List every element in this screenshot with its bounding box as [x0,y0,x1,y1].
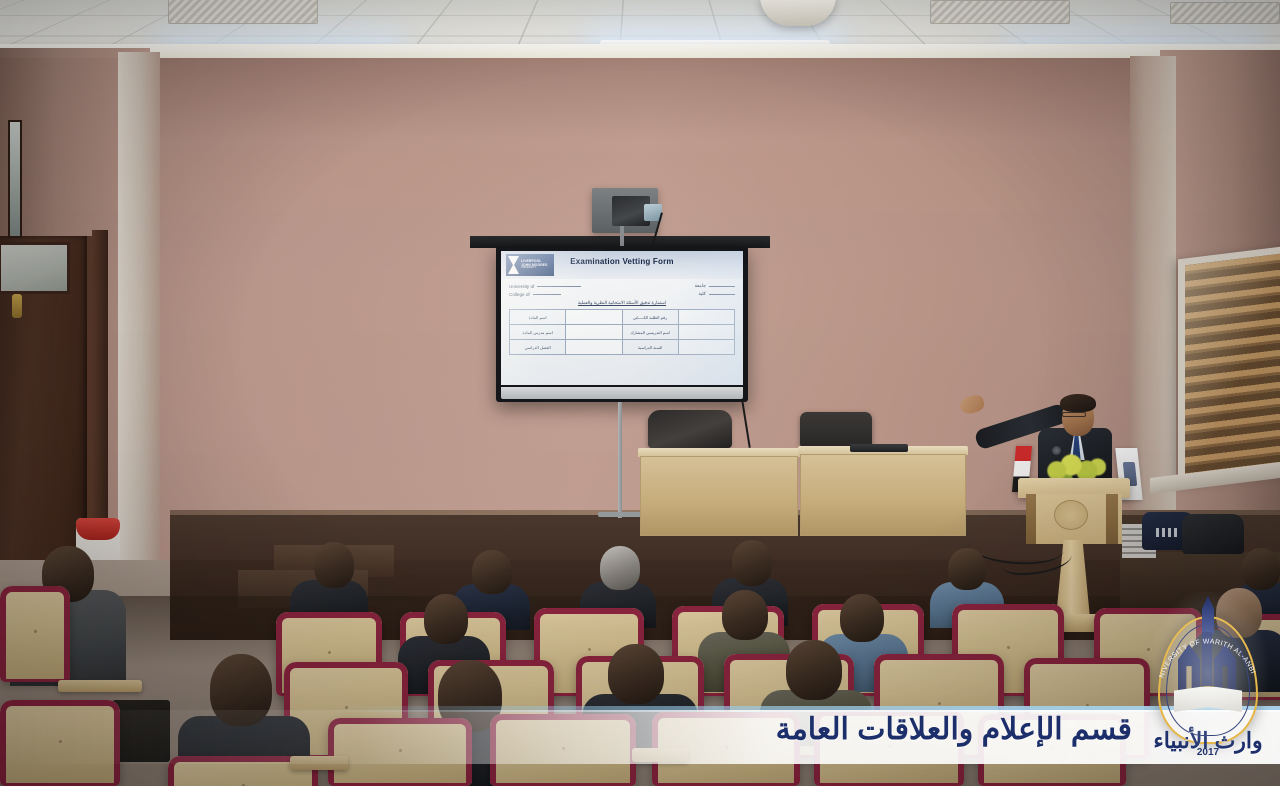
attendee-head [948,548,986,590]
cell-semester: الفصل الدراسي [510,340,566,355]
speaker-hair [1060,394,1096,412]
left-pillar [118,52,160,608]
field-university: University of [509,284,581,289]
attendee-head [840,594,884,642]
door-handle[interactable] [12,294,22,318]
attendee-head [424,594,468,644]
podium-side-trim [1106,494,1118,544]
door-vision-panel [8,120,22,238]
field-college-rule [533,294,561,295]
field-university-label: University of [509,284,534,289]
cell-blank [678,310,734,325]
ac-vent [930,0,1070,24]
attendee-head [1242,548,1280,590]
stage-desk-front [640,456,798,536]
seat-armrest-tablet [58,680,142,692]
slide-field-row: College of كلية [509,291,735,297]
window [1178,245,1280,485]
auditorium-seat[interactable] [0,700,120,786]
projector-arm [620,226,624,248]
stage-desk-front [800,454,966,536]
slide-subtitle: استمارة تدقيق الأسئلة الامتحانية النظرية… [509,300,735,306]
ac-vent [1170,2,1280,24]
briefcase [112,700,170,762]
attendee-head [722,590,768,640]
field-university-label-ar: جامعة [695,283,706,289]
field-college-ar: كلية [698,291,735,297]
table-row: اسم المادة رقم الطلبة الكـــــلي [510,310,735,325]
cell-total-students: رقم الطلبة الكـــــلي [622,310,678,325]
table-row: اسم مدرس المادة اسم التدريسي المشارك [510,325,735,340]
field-university-rule-ar [709,286,735,287]
laptop-on-desk[interactable] [850,444,908,452]
cell-subject-name: اسم المادة [510,310,566,325]
field-university-ar: جامعة [695,283,735,289]
field-college-label: College of [509,292,530,297]
door-transom-glass [0,242,70,294]
slide-body: University of جامعة College of [501,279,743,359]
logo-line-3: UNIVERSITY [521,267,548,269]
speaker-glasses [1062,412,1086,417]
field-college: College of [509,292,561,297]
attendee-head [472,550,512,594]
whiteboard-pen-tray [501,387,743,399]
auditorium-seat[interactable] [978,714,1126,786]
attendee-head [608,644,664,704]
ac-vent [168,0,318,24]
attendee-head [210,654,272,726]
cell-teacher-name: اسم مدرس المادة [510,325,566,340]
attendee-head [786,640,842,700]
podium-crest-emblem [1054,500,1088,530]
university-logo: UNIVERSITY OF WARITH AL-ANBIYA وارث الأن… [1144,592,1272,762]
attendee-head [314,542,354,588]
equipment-bag [1182,514,1244,554]
field-college-label-ar: كلية [698,291,706,297]
cell-blank [566,325,622,340]
auditorium-seat[interactable] [490,714,636,786]
interactive-whiteboard[interactable]: LIVERPOOL JOHN MOORES UNIVERSITY Examina… [496,246,748,402]
slide-table: اسم المادة رقم الطلبة الكـــــلي اسم مدر… [509,309,735,355]
window-light-glow [1185,253,1280,478]
table-row: الفصل الدراسي السنة الدراسية [510,340,735,355]
attendee-head [600,546,640,590]
photo-scene: LIVERPOOL JOHN MOORES UNIVERSITY Examina… [0,0,1280,786]
pen-nib-icon [1202,596,1214,634]
field-university-rule [537,286,581,287]
seat-armrest-tablet [632,748,688,762]
logo-year: 2017 [1144,747,1272,758]
whiteboard-stand [618,402,622,518]
auditorium-seat[interactable] [814,710,964,786]
bag-logo [1156,528,1178,537]
coat-on-chair [648,410,732,448]
cell-academic-year: السنة الدراسية [622,340,678,355]
slide-field-row: University of جامعة [509,283,735,289]
attendee-head [732,540,772,586]
cell-blank [566,340,622,355]
cell-co-teacher: اسم التدريسي المشارك [622,325,678,340]
trash-bin-lid [76,518,120,540]
cell-blank [678,340,734,355]
cell-blank [678,325,734,340]
whiteboard-foot [598,512,642,517]
field-college-rule-ar [709,294,735,295]
stage-chair[interactable] [800,412,872,448]
cell-blank [566,310,622,325]
auditorium-seat[interactable] [0,586,70,682]
slide-screen: LIVERPOOL JOHN MOORES UNIVERSITY Examina… [501,251,743,385]
slide-title: Examination Vetting Form [501,257,743,266]
auditorium-seat[interactable] [328,718,472,786]
seat-armrest-tablet [290,756,348,770]
